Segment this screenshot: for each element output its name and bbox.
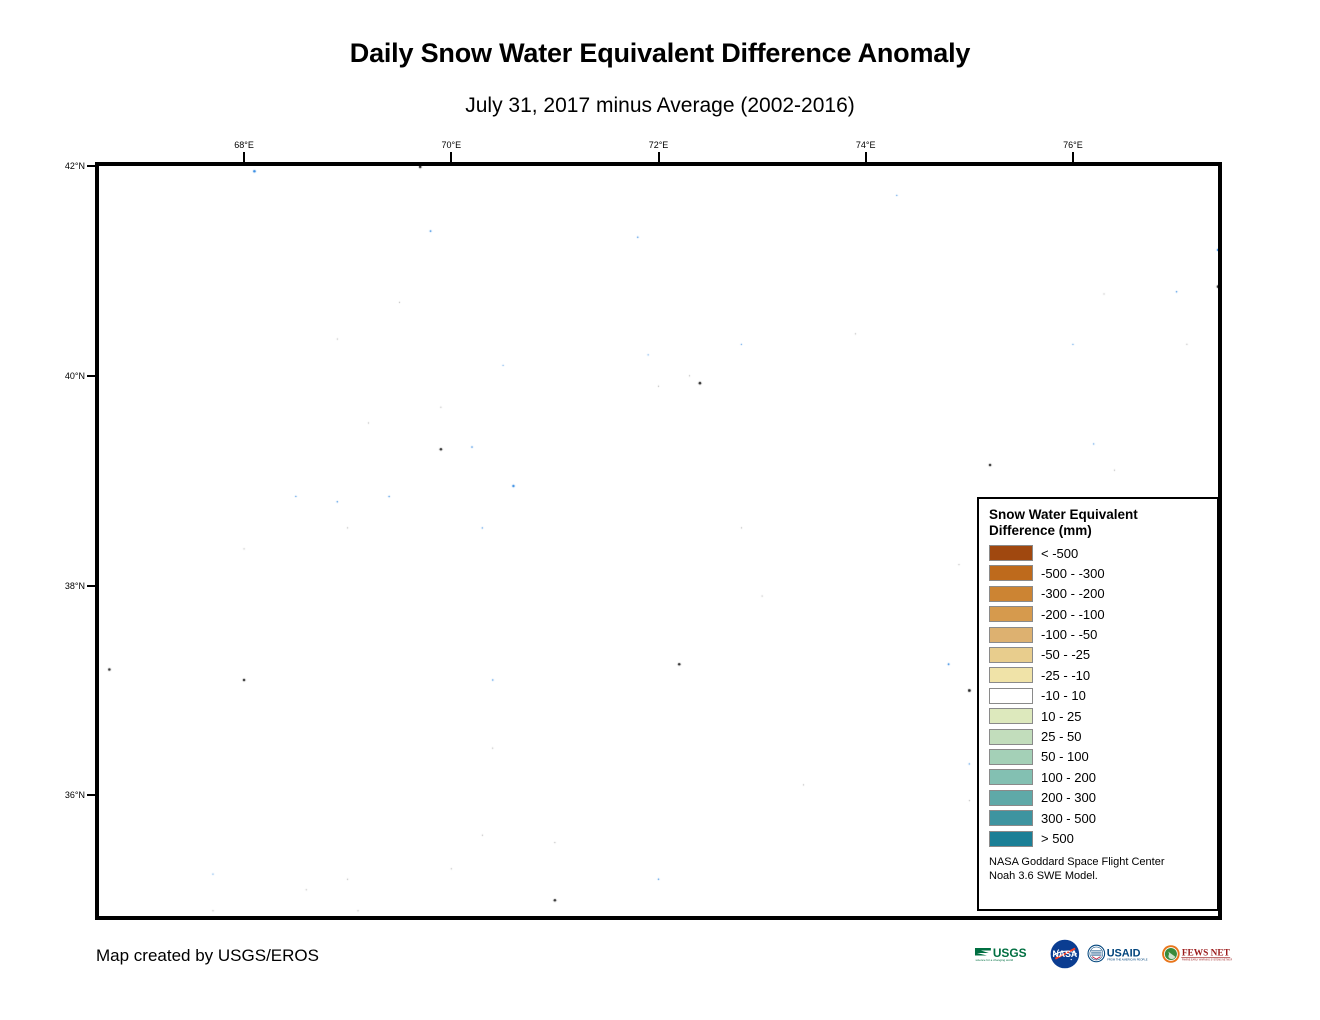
legend-source-credit: NASA Goddard Space Flight Center Noah 3.… bbox=[989, 856, 1209, 884]
svg-text:FROM THE AMERICAN PEOPLE: FROM THE AMERICAN PEOPLE bbox=[1107, 958, 1147, 962]
legend-row: 50 - 100 bbox=[989, 747, 1209, 767]
x-axis-tick-label: 74°E bbox=[856, 140, 876, 150]
legend-row: -100 - -50 bbox=[989, 624, 1209, 644]
x-axis-tick bbox=[865, 152, 867, 162]
svg-text:NASA: NASA bbox=[1053, 949, 1078, 959]
fewsnet-logo: FEWS NET FAMINE EARLY WARNING SYSTEMS NE… bbox=[1161, 938, 1232, 970]
legend-color-swatch bbox=[989, 606, 1033, 622]
legend-class-label: -50 - -25 bbox=[1041, 647, 1090, 662]
y-axis-tick-label: 40°N bbox=[57, 371, 85, 381]
legend-class-label: < -500 bbox=[1041, 546, 1078, 561]
legend-color-swatch bbox=[989, 545, 1033, 561]
legend-color-swatch bbox=[989, 586, 1033, 602]
legend-row: -25 - -10 bbox=[989, 665, 1209, 685]
legend-class-label: -300 - -200 bbox=[1041, 586, 1105, 601]
nasa-logo: NASA bbox=[1049, 938, 1081, 970]
legend-class-label: 300 - 500 bbox=[1041, 811, 1096, 826]
map-legend: Snow Water Equivalent Difference (mm) < … bbox=[977, 497, 1219, 911]
legend-color-swatch bbox=[989, 790, 1033, 806]
legend-color-swatch bbox=[989, 769, 1033, 785]
usgs-logo: USGS science for a changing world bbox=[974, 938, 1043, 970]
legend-color-swatch bbox=[989, 627, 1033, 643]
x-axis-tick bbox=[450, 152, 452, 162]
legend-title: Snow Water Equivalent Difference (mm) bbox=[989, 507, 1209, 539]
x-axis-tick bbox=[658, 152, 660, 162]
legend-class-label: -200 - -100 bbox=[1041, 607, 1105, 622]
legend-color-swatch bbox=[989, 708, 1033, 724]
svg-text:science for a changing world: science for a changing world bbox=[975, 958, 1013, 962]
legend-row: 25 - 50 bbox=[989, 726, 1209, 746]
x-axis-tick-label: 70°E bbox=[441, 140, 461, 150]
legend-class-label: 25 - 50 bbox=[1041, 729, 1081, 744]
legend-class-list: < -500-500 - -300-300 - -200-200 - -100-… bbox=[989, 543, 1209, 849]
legend-row: 10 - 25 bbox=[989, 706, 1209, 726]
legend-row: -10 - 10 bbox=[989, 686, 1209, 706]
legend-class-label: -100 - -50 bbox=[1041, 627, 1097, 642]
x-axis-tick-label: 76°E bbox=[1063, 140, 1083, 150]
x-axis-tick bbox=[1072, 152, 1074, 162]
legend-color-swatch bbox=[989, 667, 1033, 683]
legend-class-label: 100 - 200 bbox=[1041, 770, 1096, 785]
legend-color-swatch bbox=[989, 688, 1033, 704]
x-axis-tick-label: 72°E bbox=[649, 140, 669, 150]
legend-class-label: 50 - 100 bbox=[1041, 749, 1089, 764]
y-axis-tick-label: 36°N bbox=[57, 790, 85, 800]
map-creation-credit: Map created by USGS/EROS bbox=[96, 946, 319, 966]
legend-row: -500 - -300 bbox=[989, 563, 1209, 583]
legend-row: 200 - 300 bbox=[989, 788, 1209, 808]
legend-row: -200 - -100 bbox=[989, 604, 1209, 624]
legend-row: 300 - 500 bbox=[989, 808, 1209, 828]
legend-color-swatch bbox=[989, 831, 1033, 847]
svg-text:FAMINE EARLY WARNING SYSTEMS N: FAMINE EARLY WARNING SYSTEMS NETWORK bbox=[1181, 959, 1232, 962]
legend-class-label: -25 - -10 bbox=[1041, 668, 1090, 683]
legend-class-label: 200 - 300 bbox=[1041, 790, 1096, 805]
legend-row: -300 - -200 bbox=[989, 584, 1209, 604]
legend-color-swatch bbox=[989, 749, 1033, 765]
legend-row: < -500 bbox=[989, 543, 1209, 563]
usaid-logo: USAID FROM THE AMERICAN PEOPLE bbox=[1087, 938, 1154, 970]
legend-class-label: 10 - 25 bbox=[1041, 709, 1081, 724]
page-subtitle: July 31, 2017 minus Average (2002-2016) bbox=[0, 94, 1320, 118]
legend-color-swatch bbox=[989, 565, 1033, 581]
legend-row: -50 - -25 bbox=[989, 645, 1209, 665]
svg-text:USAID: USAID bbox=[1107, 948, 1141, 960]
legend-class-label: > 500 bbox=[1041, 831, 1074, 846]
agency-logo-bar: USGS science for a changing world NASA U… bbox=[974, 936, 1232, 972]
legend-row: > 500 bbox=[989, 828, 1209, 848]
y-axis-tick-label: 38°N bbox=[57, 581, 85, 591]
legend-class-label: -10 - 10 bbox=[1041, 688, 1086, 703]
legend-color-swatch bbox=[989, 729, 1033, 745]
legend-row: 100 - 200 bbox=[989, 767, 1209, 787]
x-axis-tick-label: 68°E bbox=[234, 140, 254, 150]
x-axis-tick bbox=[243, 152, 245, 162]
legend-class-label: -500 - -300 bbox=[1041, 566, 1105, 581]
legend-color-swatch bbox=[989, 810, 1033, 826]
page-title: Daily Snow Water Equivalent Difference A… bbox=[0, 38, 1320, 69]
legend-color-swatch bbox=[989, 647, 1033, 663]
y-axis-tick-label: 42°N bbox=[57, 161, 85, 171]
